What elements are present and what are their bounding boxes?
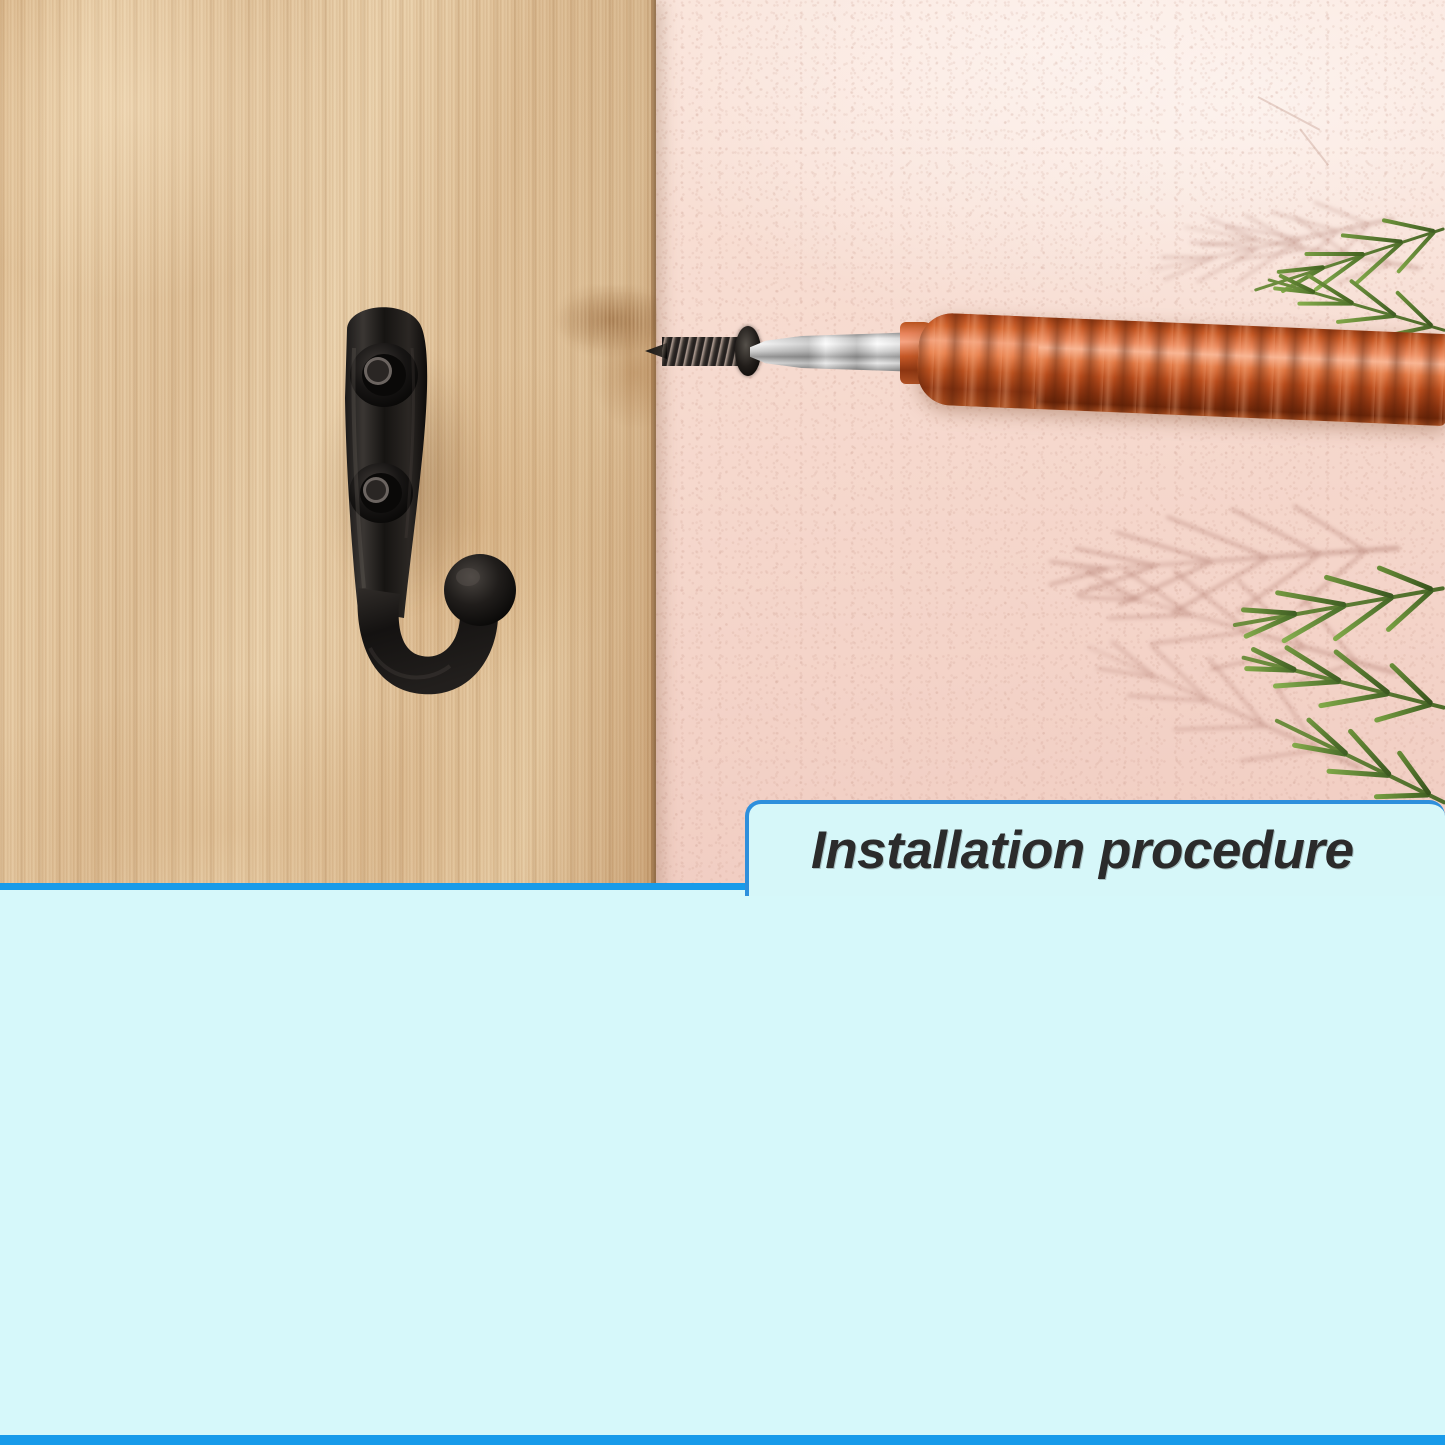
product-photo bbox=[0, 0, 1445, 900]
page-title: Installation procedure bbox=[749, 820, 1354, 881]
panel-bottom-bar bbox=[0, 1435, 1445, 1445]
instruction-panel bbox=[0, 883, 1445, 1445]
board-edge bbox=[651, 0, 656, 900]
title-callout-box: Installation procedure bbox=[745, 800, 1445, 896]
wall-hook bbox=[300, 288, 550, 708]
infographic-page: Installation procedure Step1 Fix the hoo… bbox=[0, 0, 1445, 1445]
